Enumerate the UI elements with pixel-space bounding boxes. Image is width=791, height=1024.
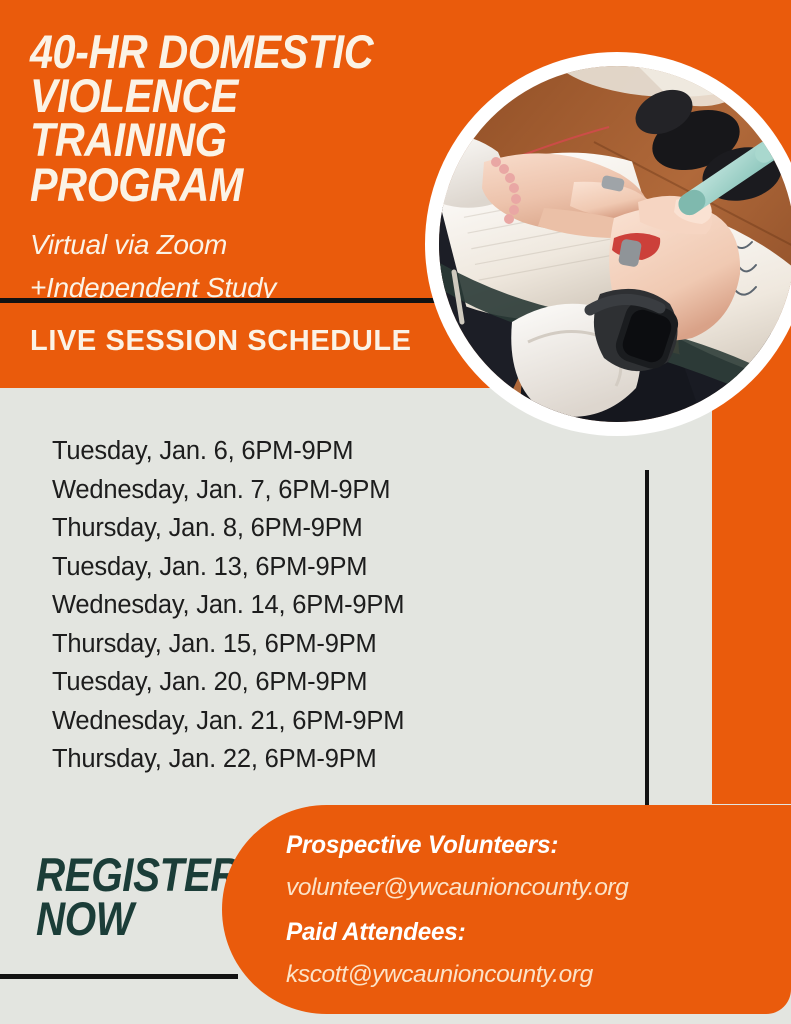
list-item: Wednesday, Jan. 21, 6PM-9PM (52, 702, 612, 741)
list-item: Thursday, Jan. 8, 6PM-9PM (52, 509, 612, 548)
volunteer-email-link[interactable]: volunteer@ywcaunioncounty.org (286, 869, 766, 907)
poster-root: 40-HR DOMESTIC VIOLENCE TRAINING PROGRAM… (0, 0, 791, 1024)
subtitle-line-1: Virtual via Zoom (30, 223, 450, 266)
list-item: Thursday, Jan. 22, 6PM-9PM (52, 740, 612, 779)
register-now-text: REGISTER NOW (36, 853, 239, 940)
top-divider-rule (0, 298, 436, 303)
list-item: Wednesday, Jan. 7, 6PM-9PM (52, 471, 612, 510)
vertical-divider-rule (645, 470, 649, 805)
hands-writing-in-notebook-photo (424, 22, 791, 466)
paid-attendees-label: Paid Attendees: (286, 914, 752, 952)
list-item: Tuesday, Jan. 13, 6PM-9PM (52, 548, 612, 587)
paid-attendee-email-link[interactable]: kscott@ywcaunioncounty.org (286, 956, 766, 994)
list-item: Thursday, Jan. 15, 6PM-9PM (52, 625, 612, 664)
subtitle-block: Virtual via Zoom +Independent Study (30, 223, 450, 310)
header-block: 40-HR DOMESTIC VIOLENCE TRAINING PROGRAM… (30, 30, 450, 309)
schedule-list: Tuesday, Jan. 6, 6PM-9PM Wednesday, Jan.… (52, 432, 612, 779)
bottom-divider-rule (0, 974, 238, 979)
contact-panel: Prospective Volunteers: volunteer@ywcaun… (222, 805, 791, 1014)
list-item: Wednesday, Jan. 14, 6PM-9PM (52, 586, 612, 625)
contact-inner: Prospective Volunteers: volunteer@ywcaun… (286, 827, 766, 1002)
page-title: 40-HR DOMESTIC VIOLENCE TRAINING PROGRAM (30, 30, 400, 207)
schedule-band-label: LIVE SESSION SCHEDULE (30, 325, 412, 358)
prospective-volunteers-label: Prospective Volunteers: (286, 827, 752, 865)
list-item: Tuesday, Jan. 20, 6PM-9PM (52, 663, 612, 702)
